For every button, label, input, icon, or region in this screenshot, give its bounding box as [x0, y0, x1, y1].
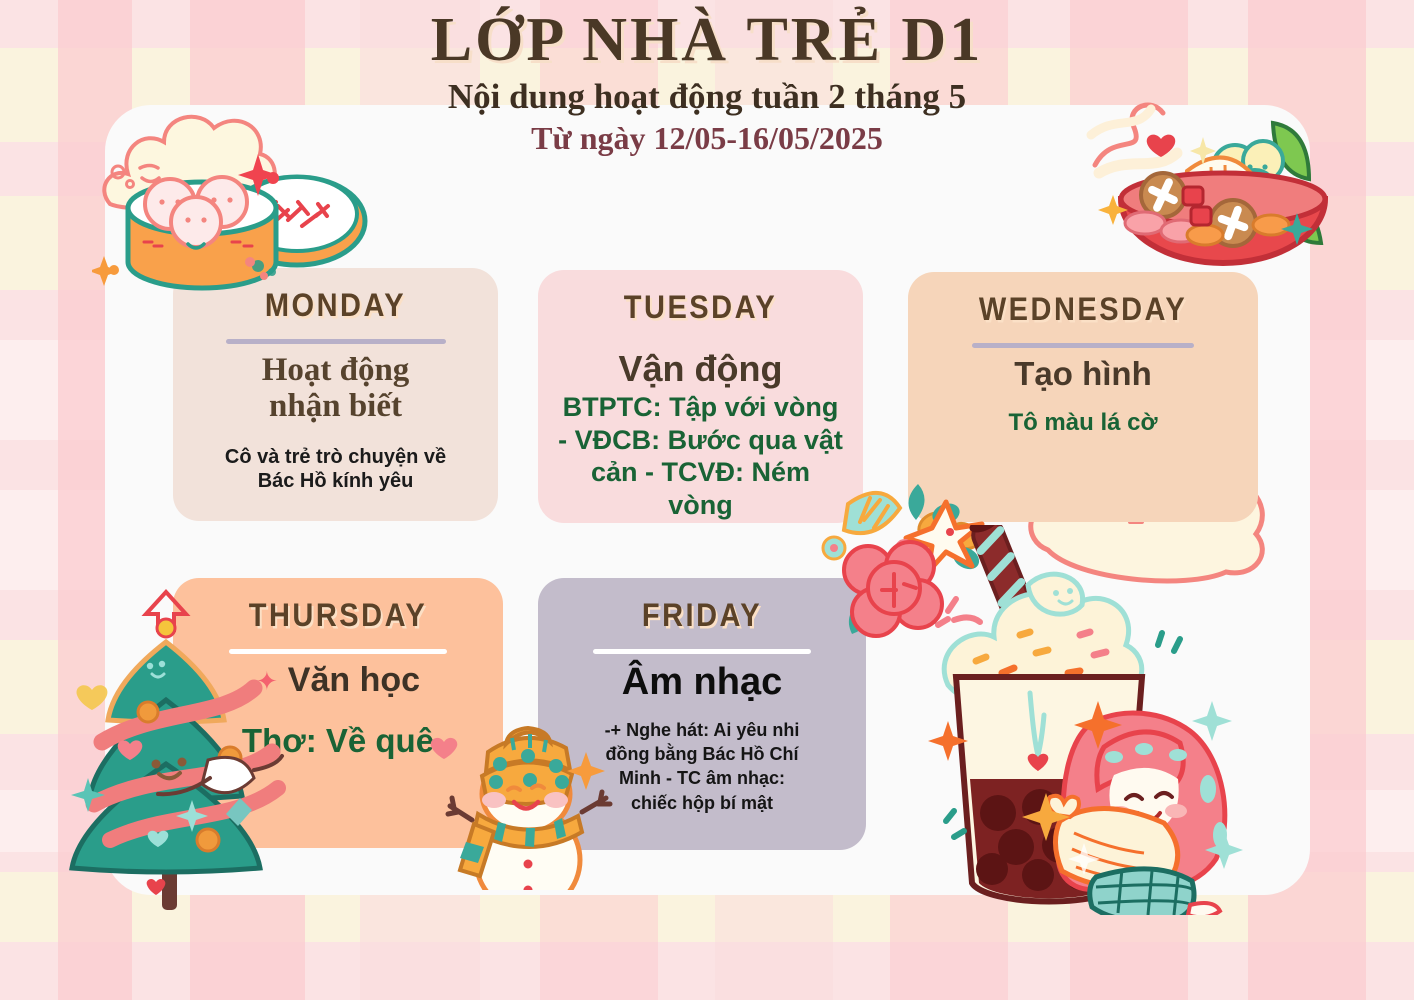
day-card-thursday[interactable]: THURSDAY ✦ Văn học Thơ: Về quê [173, 578, 503, 848]
subject-row-thursday: ✦ Văn học [256, 662, 420, 699]
detail-wednesday: Tô màu lá cờ [1008, 408, 1157, 437]
page-subtitle: Nội dung hoạt động tuần 2 tháng 5 [0, 77, 1414, 117]
card-divider [972, 343, 1194, 348]
detail-line: chiếc hộp bí mật [631, 793, 773, 813]
day-label-friday: FRIDAY [642, 598, 762, 635]
detail-friday: -+ Nghe hát: Ai yêu nhi đồng bằng Bác Hồ… [605, 718, 800, 815]
card-divider [593, 649, 811, 654]
day-label-wednesday: WEDNESDAY [979, 292, 1187, 329]
day-card-friday[interactable]: FRIDAY Âm nhạc -+ Nghe hát: Ai yêu nhi đ… [538, 578, 866, 850]
subject-tuesday: Vận động [619, 349, 783, 389]
detail-monday: Cô và trẻ trò chuyện về Bác Hồ kính yêu [225, 445, 446, 494]
date-range: Từ ngày 12/05-16/05/2025 [0, 120, 1414, 157]
detail-line: đồng bằng Bác Hồ Chí [605, 744, 798, 764]
detail-line: -+ Nghe hát: Ai yêu nhi [605, 720, 800, 740]
detail-thursday: Thơ: Về quê [242, 721, 434, 761]
day-label-thursday: THURSDAY [249, 598, 427, 635]
day-card-tuesday[interactable]: TUESDAY Vận động BTPTC: Tập với vòng - V… [538, 270, 863, 523]
detail-tuesday: BTPTC: Tập với vòng - VĐCB: Bước qua vật… [556, 391, 845, 523]
page-title: LỚP NHÀ TRẺ D1 [0, 8, 1414, 73]
subject-wednesday: Tạo hình [1014, 356, 1151, 392]
day-label-monday: MONDAY [265, 288, 406, 325]
detail-line: Cô và trẻ trò chuyện về [225, 446, 446, 468]
day-card-wednesday[interactable]: WEDNESDAY Tạo hình Tô màu lá cờ [908, 272, 1258, 522]
subject-monday: Hoạt động nhận biết [262, 352, 410, 425]
subject-thursday: Văn học [288, 662, 420, 699]
card-divider [229, 649, 447, 654]
card-divider [226, 339, 446, 344]
sparkle-icon: ✦ [256, 668, 278, 694]
day-card-monday[interactable]: MONDAY Hoạt động nhận biết Cô và trẻ trò… [173, 268, 498, 521]
subject-friday: Âm nhạc [622, 662, 782, 704]
detail-line: Minh - TC âm nhạc: [619, 768, 785, 788]
detail-line: Bác Hồ kính yêu [258, 470, 414, 492]
poster-header: LỚP NHÀ TRẺ D1 Nội dung hoạt động tuần 2… [0, 8, 1414, 157]
day-label-tuesday: TUESDAY [624, 290, 777, 327]
subject-line: nhận biết [269, 388, 402, 424]
subject-line: Hoạt động [262, 352, 410, 388]
